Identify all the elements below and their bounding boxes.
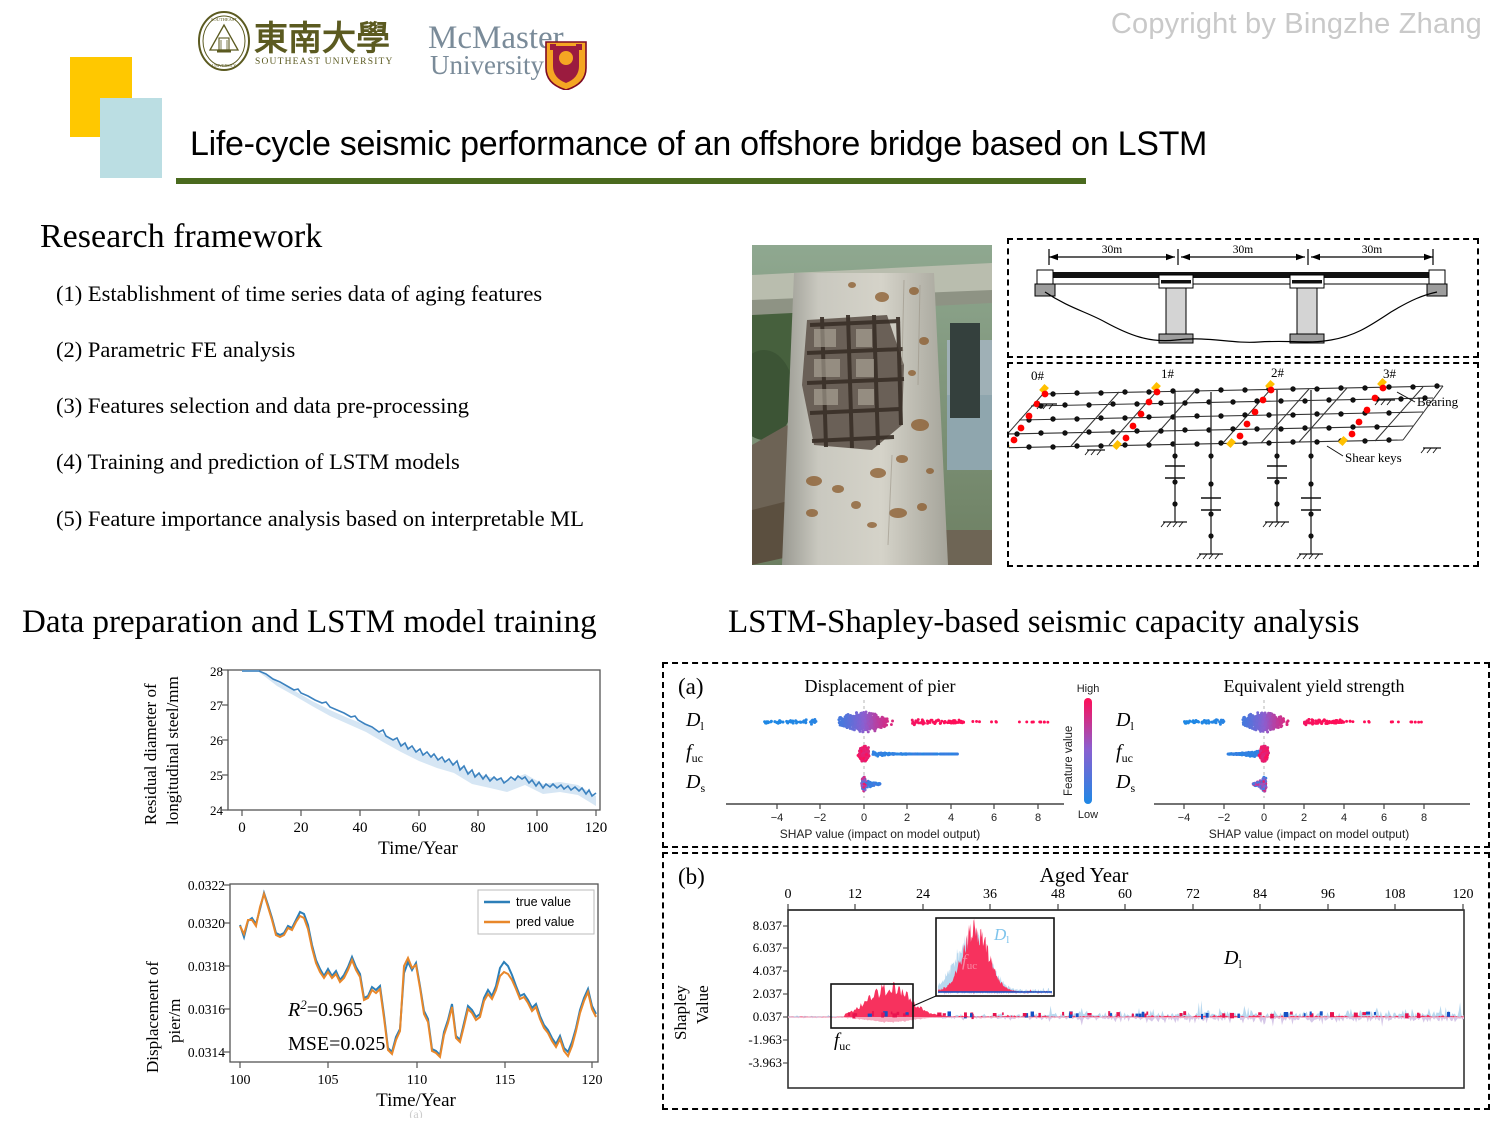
svg-text:120: 120 bbox=[582, 1073, 603, 1088]
residual-diameter-line bbox=[242, 671, 596, 796]
annotation-Dl: Dl bbox=[1223, 947, 1242, 971]
svg-text:20: 20 bbox=[294, 820, 309, 836]
copyright-notice: Copyright by Bingzhe Zhang bbox=[1111, 8, 1482, 41]
y-axis-label-line2: longitudinal steel/mm bbox=[163, 676, 182, 825]
seu-chinese-name: 東南大學 bbox=[254, 19, 390, 59]
r-squared-annotation: R2=0.965 bbox=[287, 997, 363, 1021]
svg-text:4: 4 bbox=[1341, 812, 1347, 824]
svg-text:110: 110 bbox=[407, 1073, 427, 1088]
bearing-annotation: Bearing bbox=[1417, 394, 1459, 409]
x-axis-label-shap-a: SHAP value (impact on model output) bbox=[780, 827, 981, 841]
svg-text:0: 0 bbox=[1261, 812, 1267, 824]
page-title: Life-cycle seismic performance of an off… bbox=[190, 125, 1490, 164]
y-axis-label-line1: Residual diameter of bbox=[141, 683, 160, 825]
beeswarm-row-Ds bbox=[860, 776, 881, 793]
list-item: (3) Features selection and data pre-proc… bbox=[56, 392, 716, 420]
svg-text:100: 100 bbox=[230, 1073, 251, 1088]
feature-label-Dl-2: Dl bbox=[1115, 709, 1134, 733]
colorbar-title: Feature value bbox=[1063, 726, 1075, 796]
svg-text:0: 0 bbox=[861, 812, 867, 824]
y-axis-label-line1: Shapley bbox=[671, 985, 690, 1040]
svg-text:40: 40 bbox=[353, 820, 368, 836]
chart-title-aged-year: Aged Year bbox=[1040, 863, 1129, 887]
chart-title-displacement: Displacement of pier bbox=[805, 676, 956, 696]
shap-beeswarm-panel: (a) Displacement of pier Dl fuc Ds −4−20… bbox=[662, 662, 1490, 848]
svg-text:60: 60 bbox=[412, 820, 427, 836]
y-axis-label-line2: pier/m bbox=[165, 999, 184, 1043]
svg-text:80: 80 bbox=[471, 820, 486, 836]
annotation-fuc: fuc bbox=[834, 1030, 851, 1053]
legend-label-pred: pred value bbox=[516, 915, 574, 929]
y-axis-label-line2: Value bbox=[693, 985, 712, 1024]
panel-tag-a: (a) bbox=[678, 674, 704, 699]
decorative-square-blue bbox=[100, 98, 162, 178]
feature-label-fuc: fuc bbox=[686, 741, 703, 765]
svg-text:2: 2 bbox=[1301, 812, 1307, 824]
panel-tag-b: (b) bbox=[678, 864, 705, 889]
feature-label-Dl: Dl bbox=[685, 709, 704, 733]
svg-text:−2: −2 bbox=[814, 812, 827, 824]
svg-text:0.0314: 0.0314 bbox=[188, 1045, 225, 1060]
svg-text:−2: −2 bbox=[1218, 812, 1231, 824]
svg-text:24: 24 bbox=[210, 803, 224, 818]
seu-english-name: SOUTHEAST UNIVERSITY bbox=[255, 57, 394, 67]
mcmaster-wordmark-line2: University bbox=[430, 50, 544, 80]
pier-label: 0# bbox=[1031, 368, 1045, 383]
corroded-pier-photograph bbox=[752, 245, 992, 565]
zoom-connector-line bbox=[913, 996, 936, 1006]
beeswarm-row-Dl bbox=[763, 710, 1049, 733]
svg-text:2: 2 bbox=[904, 812, 910, 824]
beeswarm-row-Ds-2 bbox=[1252, 776, 1268, 793]
svg-text:27: 27 bbox=[210, 698, 224, 713]
svg-text:UNIVERSITY: UNIVERSITY bbox=[212, 63, 236, 68]
svg-text:0.0320: 0.0320 bbox=[188, 916, 225, 931]
x-axis-label: Time/Year bbox=[378, 838, 458, 859]
span-label: 30m bbox=[1362, 244, 1383, 256]
svg-text:−4: −4 bbox=[771, 812, 784, 824]
section-heading-shapley-analysis: LSTM-Shapley-based seismic capacity anal… bbox=[728, 604, 1359, 641]
x-axis-label-shap-b: SHAP value (impact on model output) bbox=[1209, 827, 1410, 841]
finite-element-model-diagram: 0# 1# 2# 3# Bearing Shear keys bbox=[1007, 362, 1479, 567]
feature-label-fuc-2: fuc bbox=[1116, 741, 1133, 765]
svg-text:SOUTHEAST: SOUTHEAST bbox=[211, 17, 238, 22]
section-heading-data-preparation: Data preparation and LSTM model training bbox=[22, 604, 597, 641]
svg-text:120: 120 bbox=[585, 820, 608, 836]
svg-text:4: 4 bbox=[948, 812, 954, 824]
title-underline-rule bbox=[176, 178, 1086, 184]
y-axis-label-line1: Displacement of bbox=[143, 961, 162, 1073]
legend-label-true: true value bbox=[516, 895, 571, 909]
list-item: (4) Training and prediction of LSTM mode… bbox=[56, 448, 716, 476]
bridge-elevation-diagram: 30m 30m 30m bbox=[1007, 238, 1479, 358]
chart-pier-displacement-prediction: Displacement of pier/m 0.0314 0.0316 0.0… bbox=[140, 868, 610, 1118]
svg-text:115: 115 bbox=[495, 1073, 515, 1088]
svg-text:6: 6 bbox=[991, 812, 997, 824]
list-item: (2) Parametric FE analysis bbox=[56, 336, 716, 364]
shapley-series-main bbox=[788, 982, 1464, 1027]
colorbar-high-label: High bbox=[1077, 683, 1100, 695]
svg-text:−4: −4 bbox=[1178, 812, 1191, 824]
colorbar-low-label: Low bbox=[1078, 809, 1098, 821]
svg-text:25: 25 bbox=[210, 768, 223, 783]
chart-residual-diameter: Residual diameter of longitudinal steel/… bbox=[140, 660, 610, 860]
list-item: (1) Establishment of time series data of… bbox=[56, 280, 716, 308]
pier-label: 1# bbox=[1161, 366, 1175, 381]
beeswarm-row-fuc bbox=[857, 745, 959, 763]
shear-keys-annotation: Shear keys bbox=[1345, 450, 1402, 465]
chart-title-yield: Equivalent yield strength bbox=[1224, 676, 1405, 696]
mcmaster-university-logo: McMaster University bbox=[428, 18, 598, 90]
beeswarm-row-Dl-2 bbox=[1183, 711, 1423, 733]
mse-annotation: MSE=0.025 bbox=[288, 1033, 385, 1055]
svg-text:0.0316: 0.0316 bbox=[188, 1002, 225, 1017]
southeast-university-logo: SOUTHEAST UNIVERSITY 東南大學 SOUTHEAST UNIV… bbox=[196, 8, 396, 88]
svg-text:26: 26 bbox=[210, 733, 224, 748]
svg-text:8: 8 bbox=[1035, 812, 1041, 824]
feature-value-colorbar bbox=[1084, 698, 1092, 804]
section-heading-research-framework: Research framework bbox=[40, 218, 322, 256]
svg-text:0: 0 bbox=[238, 820, 246, 836]
framework-item-list: (1) Establishment of time series data of… bbox=[56, 280, 716, 561]
svg-text:6: 6 bbox=[1381, 812, 1387, 824]
pier-label: 2# bbox=[1271, 365, 1285, 380]
svg-text:105: 105 bbox=[318, 1073, 339, 1088]
svg-text:100: 100 bbox=[526, 820, 549, 836]
span-label: 30m bbox=[1233, 244, 1254, 256]
svg-text:28: 28 bbox=[210, 664, 223, 679]
shapley-time-series-panel: (b) Aged Year 01224 364860 728496 108120… bbox=[662, 852, 1490, 1110]
pier-label: 3# bbox=[1383, 366, 1397, 381]
list-item: (5) Feature importance analysis based on… bbox=[56, 505, 716, 533]
subfigure-caption: (a) bbox=[409, 1107, 422, 1118]
feature-label-Ds-2: Ds bbox=[1115, 771, 1135, 795]
beeswarm-row-fuc-2 bbox=[1227, 745, 1270, 763]
svg-text:8: 8 bbox=[1421, 812, 1427, 824]
svg-text:0.0318: 0.0318 bbox=[188, 959, 225, 974]
span-label: 30m bbox=[1102, 244, 1123, 256]
svg-text:0.0322: 0.0322 bbox=[188, 878, 225, 893]
feature-label-Ds: Ds bbox=[685, 771, 705, 795]
